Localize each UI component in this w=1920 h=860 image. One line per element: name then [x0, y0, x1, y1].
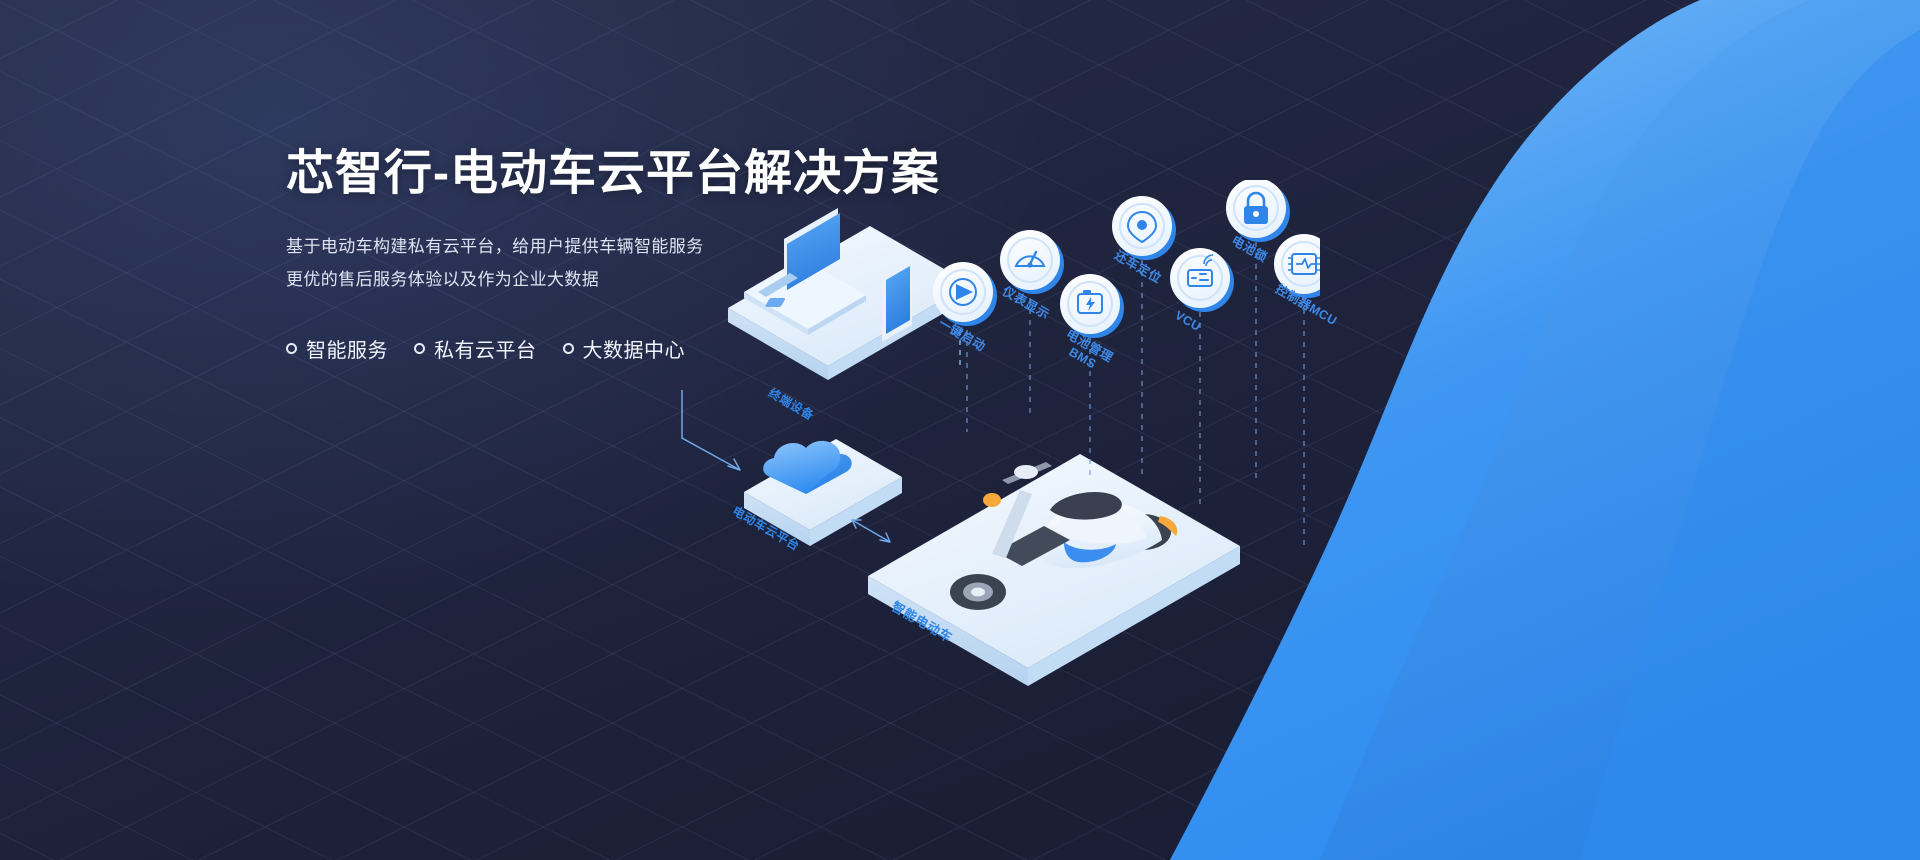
circle-bullet-icon [563, 343, 574, 354]
isometric-illustration: 终端设备 电动车云平台 智能电动车 一键启动 仪表显示 电池管理BMS 还车定位… [640, 180, 1320, 740]
circle-bullet-icon [414, 343, 425, 354]
banner-stage: 芯智行-电动车云平台解决方案 基于电动车构建私有云平台，给用户提供车辆智能服务 … [0, 0, 1920, 860]
scooter-platform-group [868, 454, 1240, 686]
bullet-item-private-cloud: 私有云平台 [414, 334, 537, 363]
illustration-svg [640, 180, 1320, 740]
bullet-label: 私有云平台 [434, 334, 537, 363]
connector-arrow-cloud-scooter [852, 520, 890, 542]
circle-bullet-icon [286, 343, 297, 354]
bullet-item-smart-service: 智能服务 [286, 334, 388, 363]
connector-arrow-terminal-cloud [682, 390, 740, 470]
bullet-label: 智能服务 [306, 334, 388, 363]
badge-dashboard[interactable] [1000, 230, 1064, 294]
badge-vcu[interactable] [1170, 248, 1234, 312]
